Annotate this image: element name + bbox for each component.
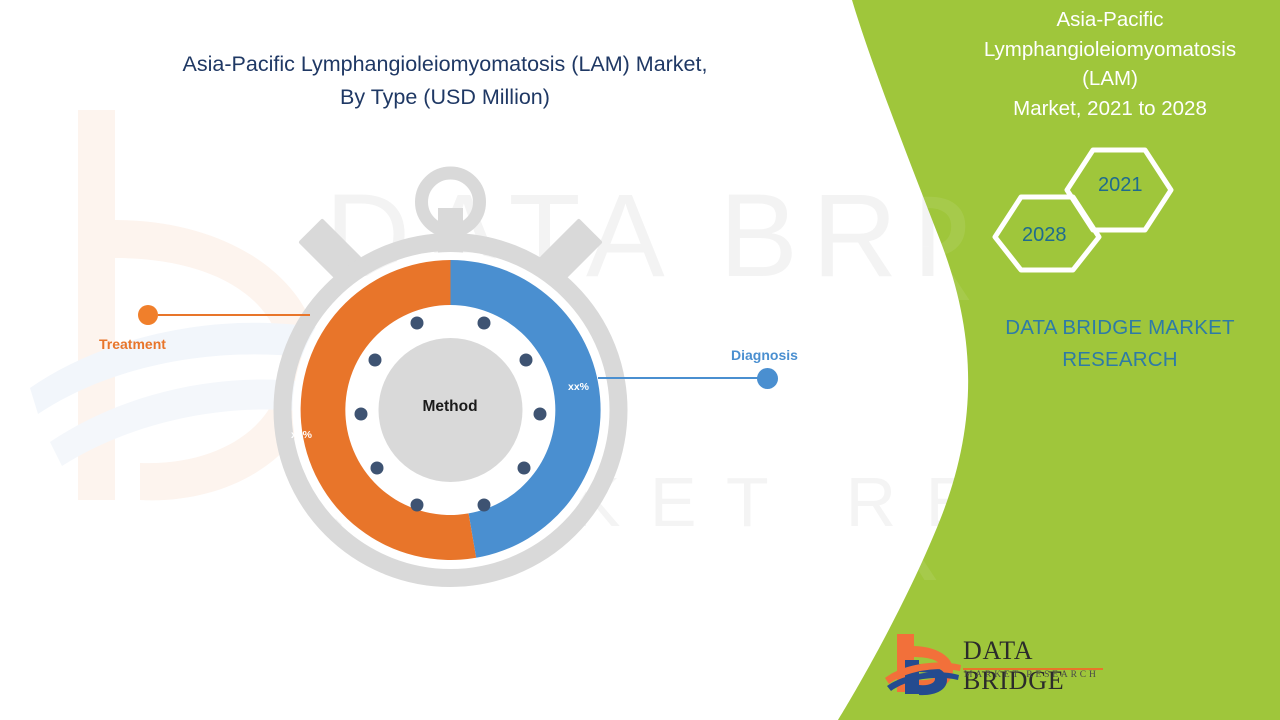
- diagnosis-leader-dot[interactable]: [757, 368, 778, 389]
- panel-title-line3: Market, 2021 to 2028: [955, 94, 1265, 124]
- treatment-leader-dot[interactable]: [138, 305, 158, 325]
- panel-title-line2: Lymphangioleiomyomatosis (LAM): [955, 35, 1265, 94]
- diagnosis-percent-label: xx%: [568, 381, 589, 393]
- panel-brand-line2: RESEARCH: [960, 344, 1280, 376]
- panel-title-line1: Asia-Pacific: [955, 5, 1265, 35]
- company-logo: DATA BRIDGE MARKET RESEARCH: [885, 630, 1115, 700]
- chart-title-line1: Asia-Pacific Lymphangioleiomyomatosis (L…: [95, 48, 795, 81]
- logo-subtitle: MARKET RESEARCH: [964, 670, 1099, 680]
- diagnosis-leader-line: [598, 377, 763, 379]
- hexagon-end-year: 2028: [1022, 224, 1067, 247]
- panel-title: Asia-Pacific Lymphangioleiomyomatosis (L…: [955, 5, 1265, 124]
- hexagon-outline-icon: [985, 145, 1185, 275]
- treatment-leader-line: [158, 314, 310, 316]
- donut-center-label: Method: [370, 398, 530, 416]
- legend-label-treatment[interactable]: Treatment: [99, 336, 166, 352]
- hexagon-start-year: 2021: [1098, 174, 1143, 197]
- panel-brand-name: DATA BRIDGE MARKET RESEARCH: [960, 312, 1280, 376]
- treatment-percent-label: xx%: [291, 429, 312, 441]
- stopwatch-donut-chart: [258, 160, 643, 600]
- legend-label-diagnosis[interactable]: Diagnosis: [731, 347, 798, 363]
- svg-text:R: R: [868, 164, 976, 332]
- chart-title-line2: By Type (USD Million): [95, 81, 795, 114]
- data-bridge-logo-mark-icon: [885, 630, 963, 698]
- year-hexagons: 2021 2028: [985, 145, 1185, 275]
- logo-title: DATA BRIDGE: [963, 636, 1115, 696]
- infographic-canvas: DATA BRIDGE MARKET RESEARCH R R Asia-Pac…: [0, 0, 1280, 720]
- chart-title: Asia-Pacific Lymphangioleiomyomatosis (L…: [95, 48, 795, 115]
- panel-brand-line1: DATA BRIDGE MARKET: [960, 312, 1280, 344]
- svg-text:R: R: [862, 481, 941, 604]
